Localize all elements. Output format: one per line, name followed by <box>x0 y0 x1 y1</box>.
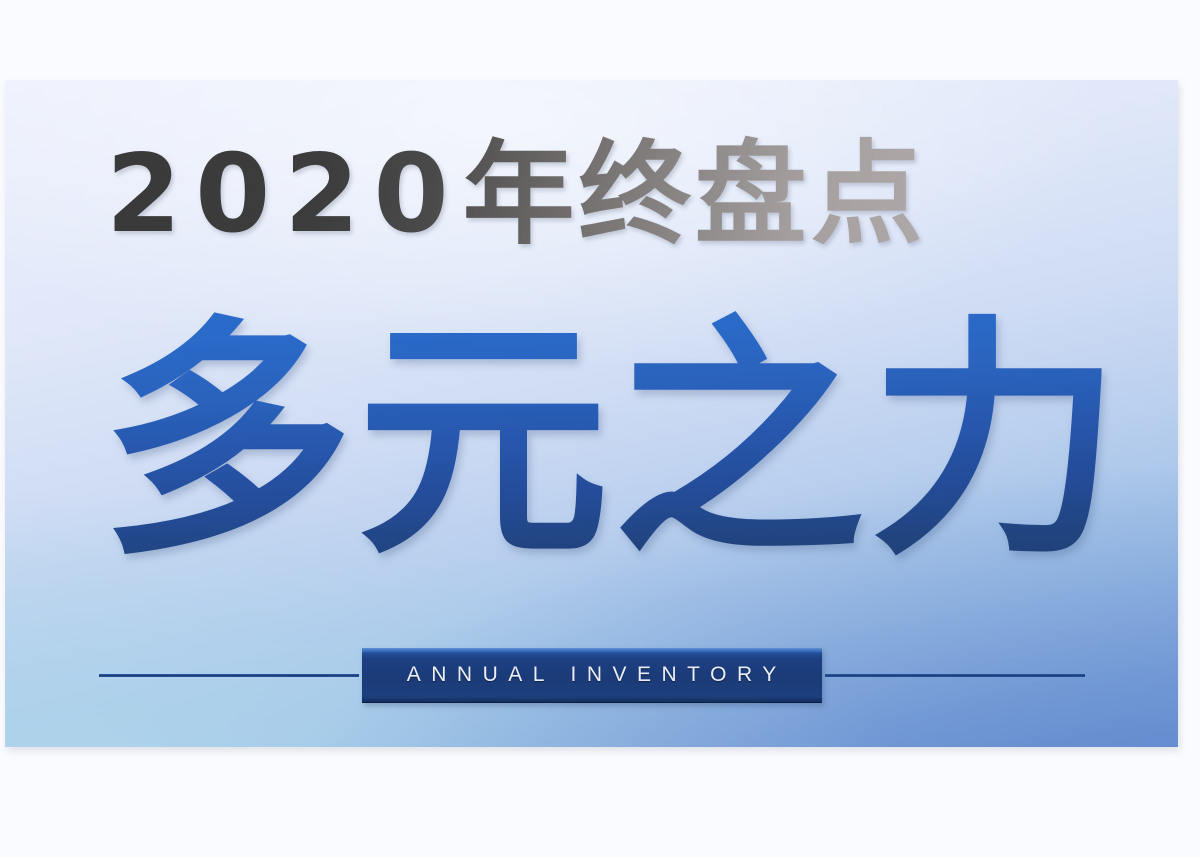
divider-rule-right <box>825 674 1085 677</box>
gradient-hero-panel: 2020 年终盘点 多元之力 ANNUAL INVENTORY <box>5 80 1178 747</box>
main-title: 多元之力 <box>101 305 1125 580</box>
headline-year-line: 2020 年终盘点 <box>106 135 927 255</box>
annual-inventory-banner: ANNUAL INVENTORY <box>362 648 822 703</box>
footer-banner-row: ANNUAL INVENTORY <box>5 640 1178 710</box>
divider-rule-left <box>99 674 359 677</box>
poster-content: 2020 年终盘点 多元之力 ANNUAL INVENTORY <box>5 80 1178 747</box>
headline-suffix: 年终盘点 <box>463 139 927 251</box>
headline-year: 2020 <box>106 141 463 249</box>
poster-page: 2020 年终盘点 多元之力 ANNUAL INVENTORY <box>0 0 1200 857</box>
banner-label: ANNUAL INVENTORY <box>396 663 787 687</box>
